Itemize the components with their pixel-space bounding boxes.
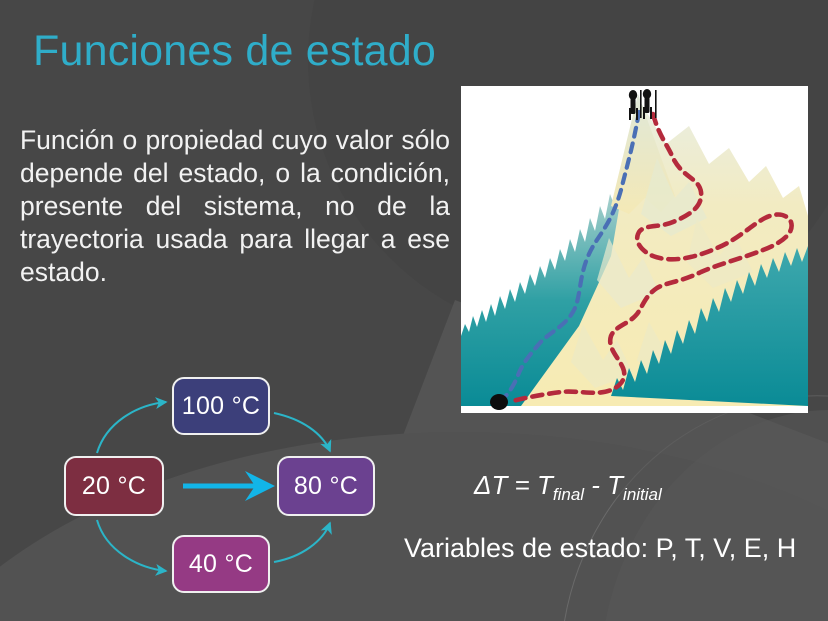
- temperature-box-100c[interactable]: 100 °C: [172, 377, 270, 435]
- arrow-100-to-80: [274, 413, 330, 451]
- equation-delta-part: ΔT =: [474, 470, 537, 500]
- temperature-box-100c-label: 100 °C: [182, 392, 261, 421]
- arrow-40-to-80: [274, 523, 330, 562]
- temperature-box-20c[interactable]: 20 °C: [64, 456, 164, 516]
- mountain-climb-paths-illustration: [461, 86, 808, 413]
- equation-t-initial-base: T: [607, 470, 623, 500]
- equation-t-initial-subscript: initial: [623, 485, 662, 504]
- page-title: Funciones de estado: [33, 28, 436, 75]
- mountain-illustration-svg: [461, 86, 808, 413]
- delta-t-equation: ΔT = Tfinal - Tinitial: [474, 470, 662, 505]
- temperature-box-40c[interactable]: 40 °C: [172, 535, 270, 593]
- state-variables-line: Variables de estado: P, T, V, E, H: [404, 533, 796, 564]
- slide-canvas: Funciones de estado Función o propiedad …: [0, 0, 828, 621]
- body-paragraph: Función o propiedad cuyo valor sólo depe…: [20, 124, 450, 289]
- equation-minus: -: [584, 470, 607, 500]
- temperature-box-40c-label: 40 °C: [189, 550, 253, 579]
- temperature-box-80c-label: 80 °C: [294, 472, 358, 501]
- arrow-20-to-100: [97, 402, 166, 453]
- equation-t-final-base: T: [537, 470, 553, 500]
- background-arc-sheen: [600, 410, 828, 621]
- arrow-20-to-40: [97, 520, 166, 571]
- temperature-box-20c-label: 20 °C: [82, 472, 146, 501]
- equation-t-final-subscript: final: [553, 485, 584, 504]
- base-camp-marker: [490, 394, 508, 410]
- temperature-box-80c[interactable]: 80 °C: [277, 456, 375, 516]
- state-function-temperature-diagram: 100 °C 20 °C 80 °C 40 °C: [40, 365, 400, 610]
